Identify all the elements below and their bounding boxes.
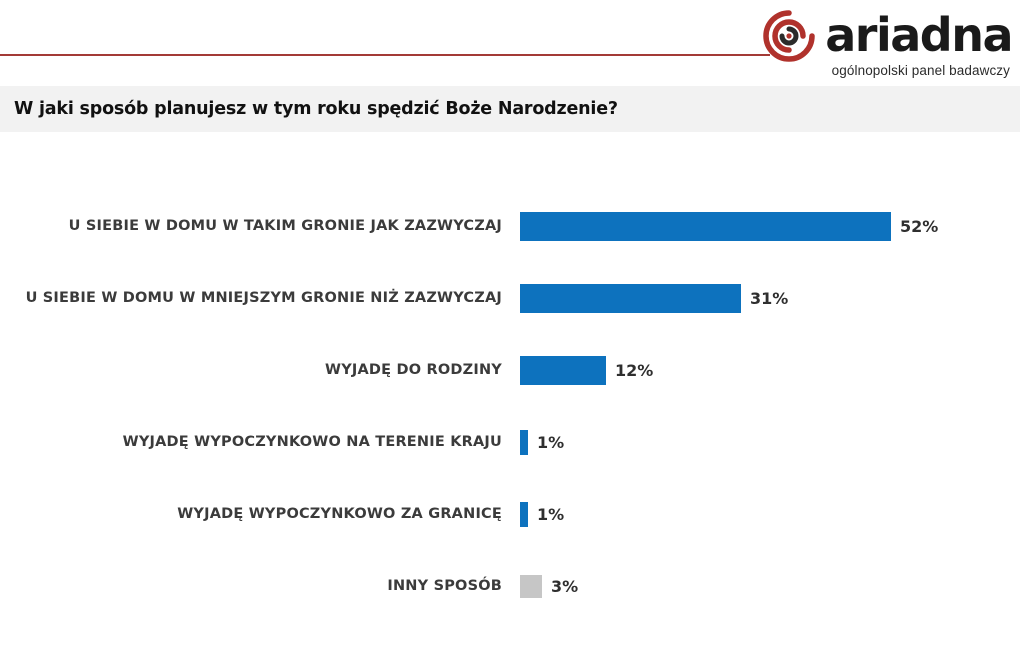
bar [520,502,528,527]
chart-row: INNY SPOSÓB3% [0,550,1020,622]
brand-logo: ariadna ogólnopolski panel badawczy [763,10,1012,78]
bar-value-label: 12% [615,361,653,380]
chart-row: WYJADĘ WYPOCZYNKOWO ZA GRANICĘ1% [0,478,1020,550]
brand-logo-row: ariadna [763,10,1012,62]
bar-value-label: 52% [900,217,938,236]
chart-row: U SIEBIE W DOMU W TAKIM GRONIE JAK ZAZWY… [0,190,1020,262]
bar-area: 1% [520,478,1020,550]
bar-chart: U SIEBIE W DOMU W TAKIM GRONIE JAK ZAZWY… [0,132,1020,650]
bar [520,430,528,455]
bar [520,212,891,241]
bar-value-label: 1% [537,505,564,524]
header-divider [0,54,770,56]
brand-name: ariadna [825,12,1012,58]
bar-category-label: INNY SPOSÓB [0,578,520,594]
bar [520,284,741,313]
page-title: W jaki sposób planujesz w tym roku spędz… [0,99,618,119]
chart-row: WYJADĘ WYPOCZYNKOWO NA TERENIE KRAJU1% [0,406,1020,478]
bar-value-label: 1% [537,433,564,452]
bar-category-label: WYJADĘ DO RODZINY [0,362,520,378]
page-header: ariadna ogólnopolski panel badawczy [0,0,1020,86]
bar-category-label: WYJADĘ WYPOCZYNKOWO ZA GRANICĘ [0,506,520,522]
bar-area: 1% [520,406,1020,478]
bar-category-label: WYJADĘ WYPOCZYNKOWO NA TERENIE KRAJU [0,434,520,450]
chart-row: WYJADĘ DO RODZINY12% [0,334,1020,406]
bar-area: 12% [520,334,1020,406]
bar [520,356,606,385]
bar-value-label: 31% [750,289,788,308]
bar-area: 31% [520,262,1020,334]
bar-category-label: U SIEBIE W DOMU W TAKIM GRONIE JAK ZAZWY… [0,218,520,234]
bar-area: 52% [520,190,1020,262]
bar-area: 3% [520,550,1020,622]
spiral-swirl-icon [763,10,815,62]
bar-category-label: U SIEBIE W DOMU W MNIEJSZYM GRONIE NIŻ Z… [0,290,520,306]
chart-row: U SIEBIE W DOMU W MNIEJSZYM GRONIE NIŻ Z… [0,262,1020,334]
bar-value-label: 3% [551,577,578,596]
brand-tagline: ogólnopolski panel badawczy [832,63,1010,78]
bar [520,575,542,598]
title-band: W jaki sposób planujesz w tym roku spędz… [0,86,1020,132]
